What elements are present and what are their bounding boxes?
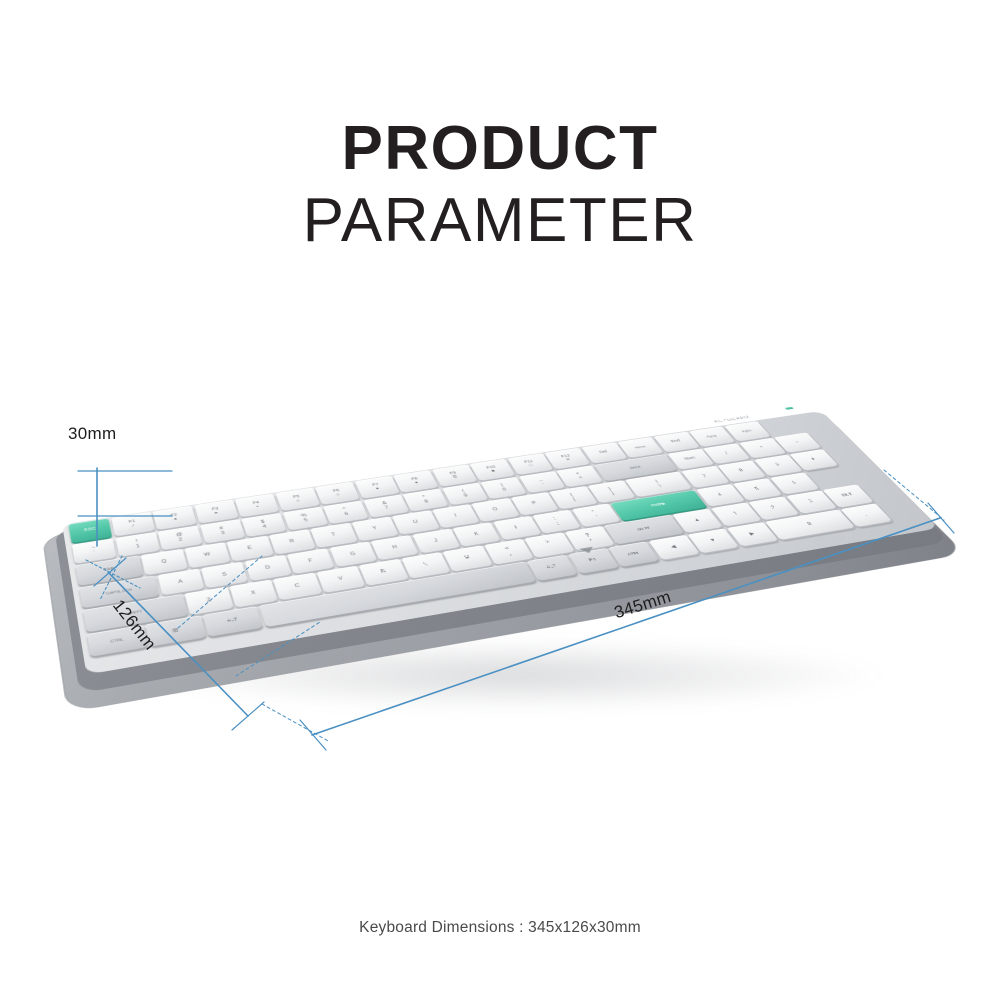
key-legend: 5	[754, 487, 761, 492]
key-i[interactable]: I	[432, 504, 480, 528]
key-legend: &7	[382, 501, 390, 510]
key-legend: F3▸	[212, 507, 221, 515]
key-legend: >.	[545, 540, 554, 550]
key-legend: 3	[808, 499, 815, 504]
key-legend: A	[178, 579, 184, 585]
key-legend: ALT	[546, 565, 558, 571]
key-legend: BACK	[629, 465, 642, 469]
key-legend: ENTER	[651, 502, 667, 507]
key-legend: K	[473, 532, 480, 537]
key--[interactable]: <,	[484, 539, 534, 565]
key-legend: T	[331, 532, 337, 537]
key-e[interactable]: E	[227, 536, 274, 562]
key-legend: D	[265, 565, 271, 571]
key-legend: 7	[702, 474, 708, 479]
key-legend: B	[380, 569, 387, 575]
key-legend: PgDn	[741, 429, 753, 433]
key-legend: End	[671, 440, 682, 445]
key--[interactable]: +	[789, 449, 838, 470]
key-legend: F10■	[486, 466, 499, 474]
key-legend: SHIFT	[637, 527, 651, 532]
key-z[interactable]: Z	[185, 587, 233, 615]
key-legend: Y	[372, 526, 378, 531]
key-legend: L	[514, 525, 520, 530]
key-legend: Q	[161, 559, 167, 565]
key-legend: CAPSLOCK	[106, 588, 133, 596]
key-legend: M	[464, 555, 472, 561]
key-legend: )0	[499, 483, 507, 492]
key-legend: ENT	[841, 493, 854, 498]
keyboard-render: ESCF1♪F2◂F3▸F4▪F5☼F6☼F7●F8●F9☰F10■F11□F1…	[0, 0, 1000, 1000]
key-legend: ALT	[227, 618, 239, 624]
brand-triangle-logo	[579, 547, 596, 555]
key-legend: (9	[461, 489, 469, 498]
key-legend: ◀	[670, 544, 678, 549]
key-legend: ?/	[585, 533, 594, 543]
key-legend: <,	[504, 546, 513, 556]
key-legend: ⊞	[172, 628, 179, 634]
key-legend: @2	[176, 533, 185, 543]
key-legend: !1	[135, 539, 141, 549]
key-legend: +=	[575, 472, 584, 481]
key-a[interactable]: A	[157, 568, 204, 595]
key-legend: F6☼	[333, 489, 342, 497]
key-legend: J	[433, 538, 439, 543]
key-legend: F5☼	[293, 495, 302, 503]
key-legend: C	[294, 583, 301, 589]
key-legend: :;	[553, 517, 560, 526]
key-legend: *8	[422, 495, 430, 504]
key-legend: ▲	[693, 518, 702, 523]
dimension-label-height: 30mm	[68, 424, 116, 444]
key-legend: ^6	[342, 507, 349, 516]
product-parameter-page: PRODUCT PARAMETER ESCF1♪F2◂F3▸F4▪F5☼F6☼F…	[0, 0, 1000, 1000]
key-f6[interactable]: F6☼	[315, 482, 360, 505]
key-legend: Z	[206, 598, 212, 604]
key-legend: 0	[806, 522, 813, 527]
key-legend: $4	[261, 520, 268, 529]
key-legend: 2	[770, 506, 777, 511]
key-legend: S	[222, 572, 228, 578]
key-legend: H	[391, 545, 398, 550]
key-legend: }]	[608, 487, 616, 496]
key-o[interactable]: O	[472, 498, 520, 522]
key-legend: N	[422, 562, 429, 568]
key-legend: _-	[538, 478, 547, 487]
key--[interactable]: >.	[525, 532, 575, 557]
key-legend: Fn	[589, 558, 598, 563]
key-legend: F2◂	[170, 513, 179, 522]
key-legend: P	[531, 501, 538, 506]
key-legend: O	[492, 507, 499, 512]
key-legend: F	[308, 558, 314, 563]
key-legend: F8●	[411, 477, 421, 485]
key-ctrl[interactable]: CTRL	[608, 541, 660, 567]
key-legend: Home	[634, 445, 646, 449]
status-indicator-badge	[785, 407, 794, 410]
key-legend: F7●	[372, 483, 382, 491]
key-legend: F9☰	[449, 471, 459, 479]
key-legend: −	[794, 440, 801, 444]
key-legend: X	[250, 590, 256, 596]
key-legend: F4▪	[252, 501, 261, 509]
key-legend: U	[412, 520, 419, 525]
key-legend: .	[863, 513, 869, 518]
key--[interactable]: /	[703, 443, 751, 464]
key-legend: {[	[569, 493, 577, 502]
key-q[interactable]: Q	[141, 549, 187, 575]
key-legend: +	[810, 457, 817, 461]
key-legend: Del	[599, 451, 609, 455]
key-legend: 4	[717, 493, 724, 498]
key-legend: %5	[301, 514, 310, 524]
key-m[interactable]: M	[443, 545, 493, 571]
key-legend: "'	[592, 511, 600, 520]
key-legend: 6	[791, 481, 798, 486]
key-legend: F11□	[524, 460, 537, 468]
key-legend: Num	[684, 456, 697, 461]
key-legend: F12✕	[561, 454, 574, 462]
key-legend: CTRL	[627, 551, 641, 556]
key-legend: #3	[219, 526, 225, 535]
key-legend: |\	[655, 480, 663, 488]
key-legend: V	[338, 576, 344, 582]
key-legend: 8	[738, 469, 745, 473]
key--[interactable]: !1	[115, 532, 160, 557]
key-legend: 9	[775, 463, 782, 467]
key-legend: ~`	[91, 546, 97, 556]
key-legend: 1	[732, 512, 739, 517]
key-legend: ESC	[84, 528, 96, 534]
key--[interactable]: ▶	[726, 522, 778, 547]
key-legend: *	[759, 446, 765, 450]
key-legend: E	[247, 546, 253, 551]
key-legend: ▼	[708, 538, 717, 544]
key-legend: TAB	[103, 567, 115, 573]
key-legend: I	[454, 514, 458, 519]
key-legend: W	[204, 552, 212, 558]
key-legend: /	[724, 451, 729, 455]
key-legend: CTRL	[110, 637, 124, 643]
key-legend: PgUp	[706, 434, 718, 438]
key-legend: G	[350, 551, 357, 556]
key-0[interactable]: 0	[765, 509, 855, 540]
key-legend: R	[289, 539, 295, 544]
key-legend: F1♪	[129, 520, 137, 529]
key-legend: ▶	[748, 531, 756, 536]
